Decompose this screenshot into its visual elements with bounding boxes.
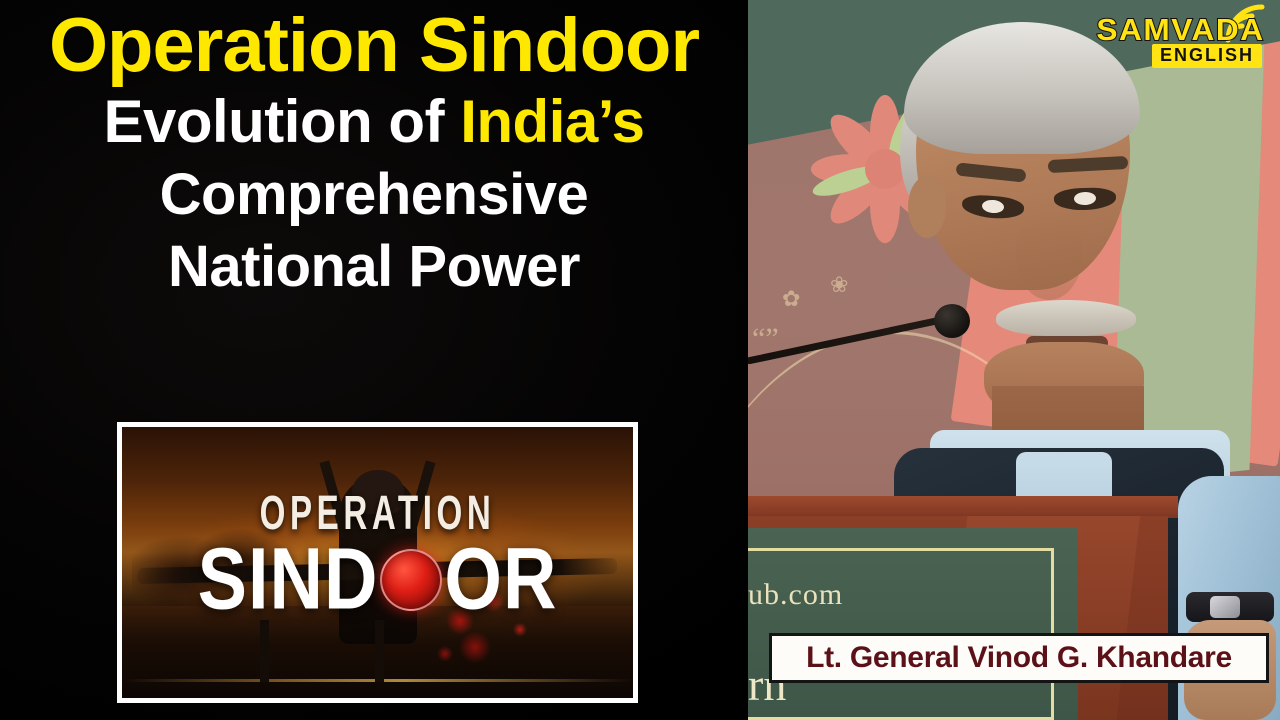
speaker-mustache <box>996 300 1136 336</box>
title-line-2: Evolution of India’s <box>0 92 748 152</box>
title-block: Operation Sindoor Evolution of India’s C… <box>0 8 748 296</box>
channel-logo[interactable]: SAMVADA ENGLISH <box>1098 8 1266 70</box>
title-line-2-yellow: India’s <box>460 88 644 155</box>
inset-thumbnail-image: OPERATION SIND OR <box>122 427 633 698</box>
jet-landing-gear-left-icon <box>260 620 269 682</box>
title-panel: Operation Sindoor Evolution of India’s C… <box>0 0 748 720</box>
sindoor-dot-icon <box>380 549 442 611</box>
inset-thumbnail-card: OPERATION SIND OR <box>117 422 638 703</box>
title-line-1: Operation Sindoor <box>0 8 748 84</box>
thumbnail-caption-bottom: SIND OR <box>122 546 633 613</box>
logo-subtitle-text: ENGLISH <box>1160 45 1254 65</box>
speaker-ear <box>908 176 946 238</box>
speaker-photo: ✿ ❀ “” ub.com rn <box>748 0 1280 720</box>
podium-top-edge <box>748 496 1178 518</box>
speaker-name-banner: Lt. General Vinod G. Khandare <box>769 633 1269 683</box>
video-thumbnail: Operation Sindoor Evolution of India’s C… <box>0 0 1280 720</box>
backdrop-ornament-2: ❀ <box>830 272 848 298</box>
podium-text-line-1: ub.com <box>748 578 843 612</box>
logo-subtitle-badge: ENGLISH <box>1152 44 1262 68</box>
thumbnail-caption-bottom-left: SIND <box>198 540 379 619</box>
title-line-2-white: Evolution of <box>103 88 460 155</box>
microphone-icon <box>934 304 970 338</box>
logo-brand-text: SAMVADA <box>1096 12 1264 48</box>
wristwatch <box>1186 592 1274 622</box>
title-line-4: National Power <box>0 238 748 296</box>
jet-landing-gear-center-icon <box>375 620 384 682</box>
title-line-3: Comprehensive <box>0 166 748 224</box>
thumbnail-caption-bottom-right: OR <box>444 540 557 619</box>
speaker-nose <box>1016 212 1082 300</box>
speaker-name-text: Lt. General Vinod G. Khandare <box>806 641 1232 675</box>
watch-face <box>1210 596 1240 618</box>
backdrop-ornament-1: ✿ <box>782 286 800 312</box>
